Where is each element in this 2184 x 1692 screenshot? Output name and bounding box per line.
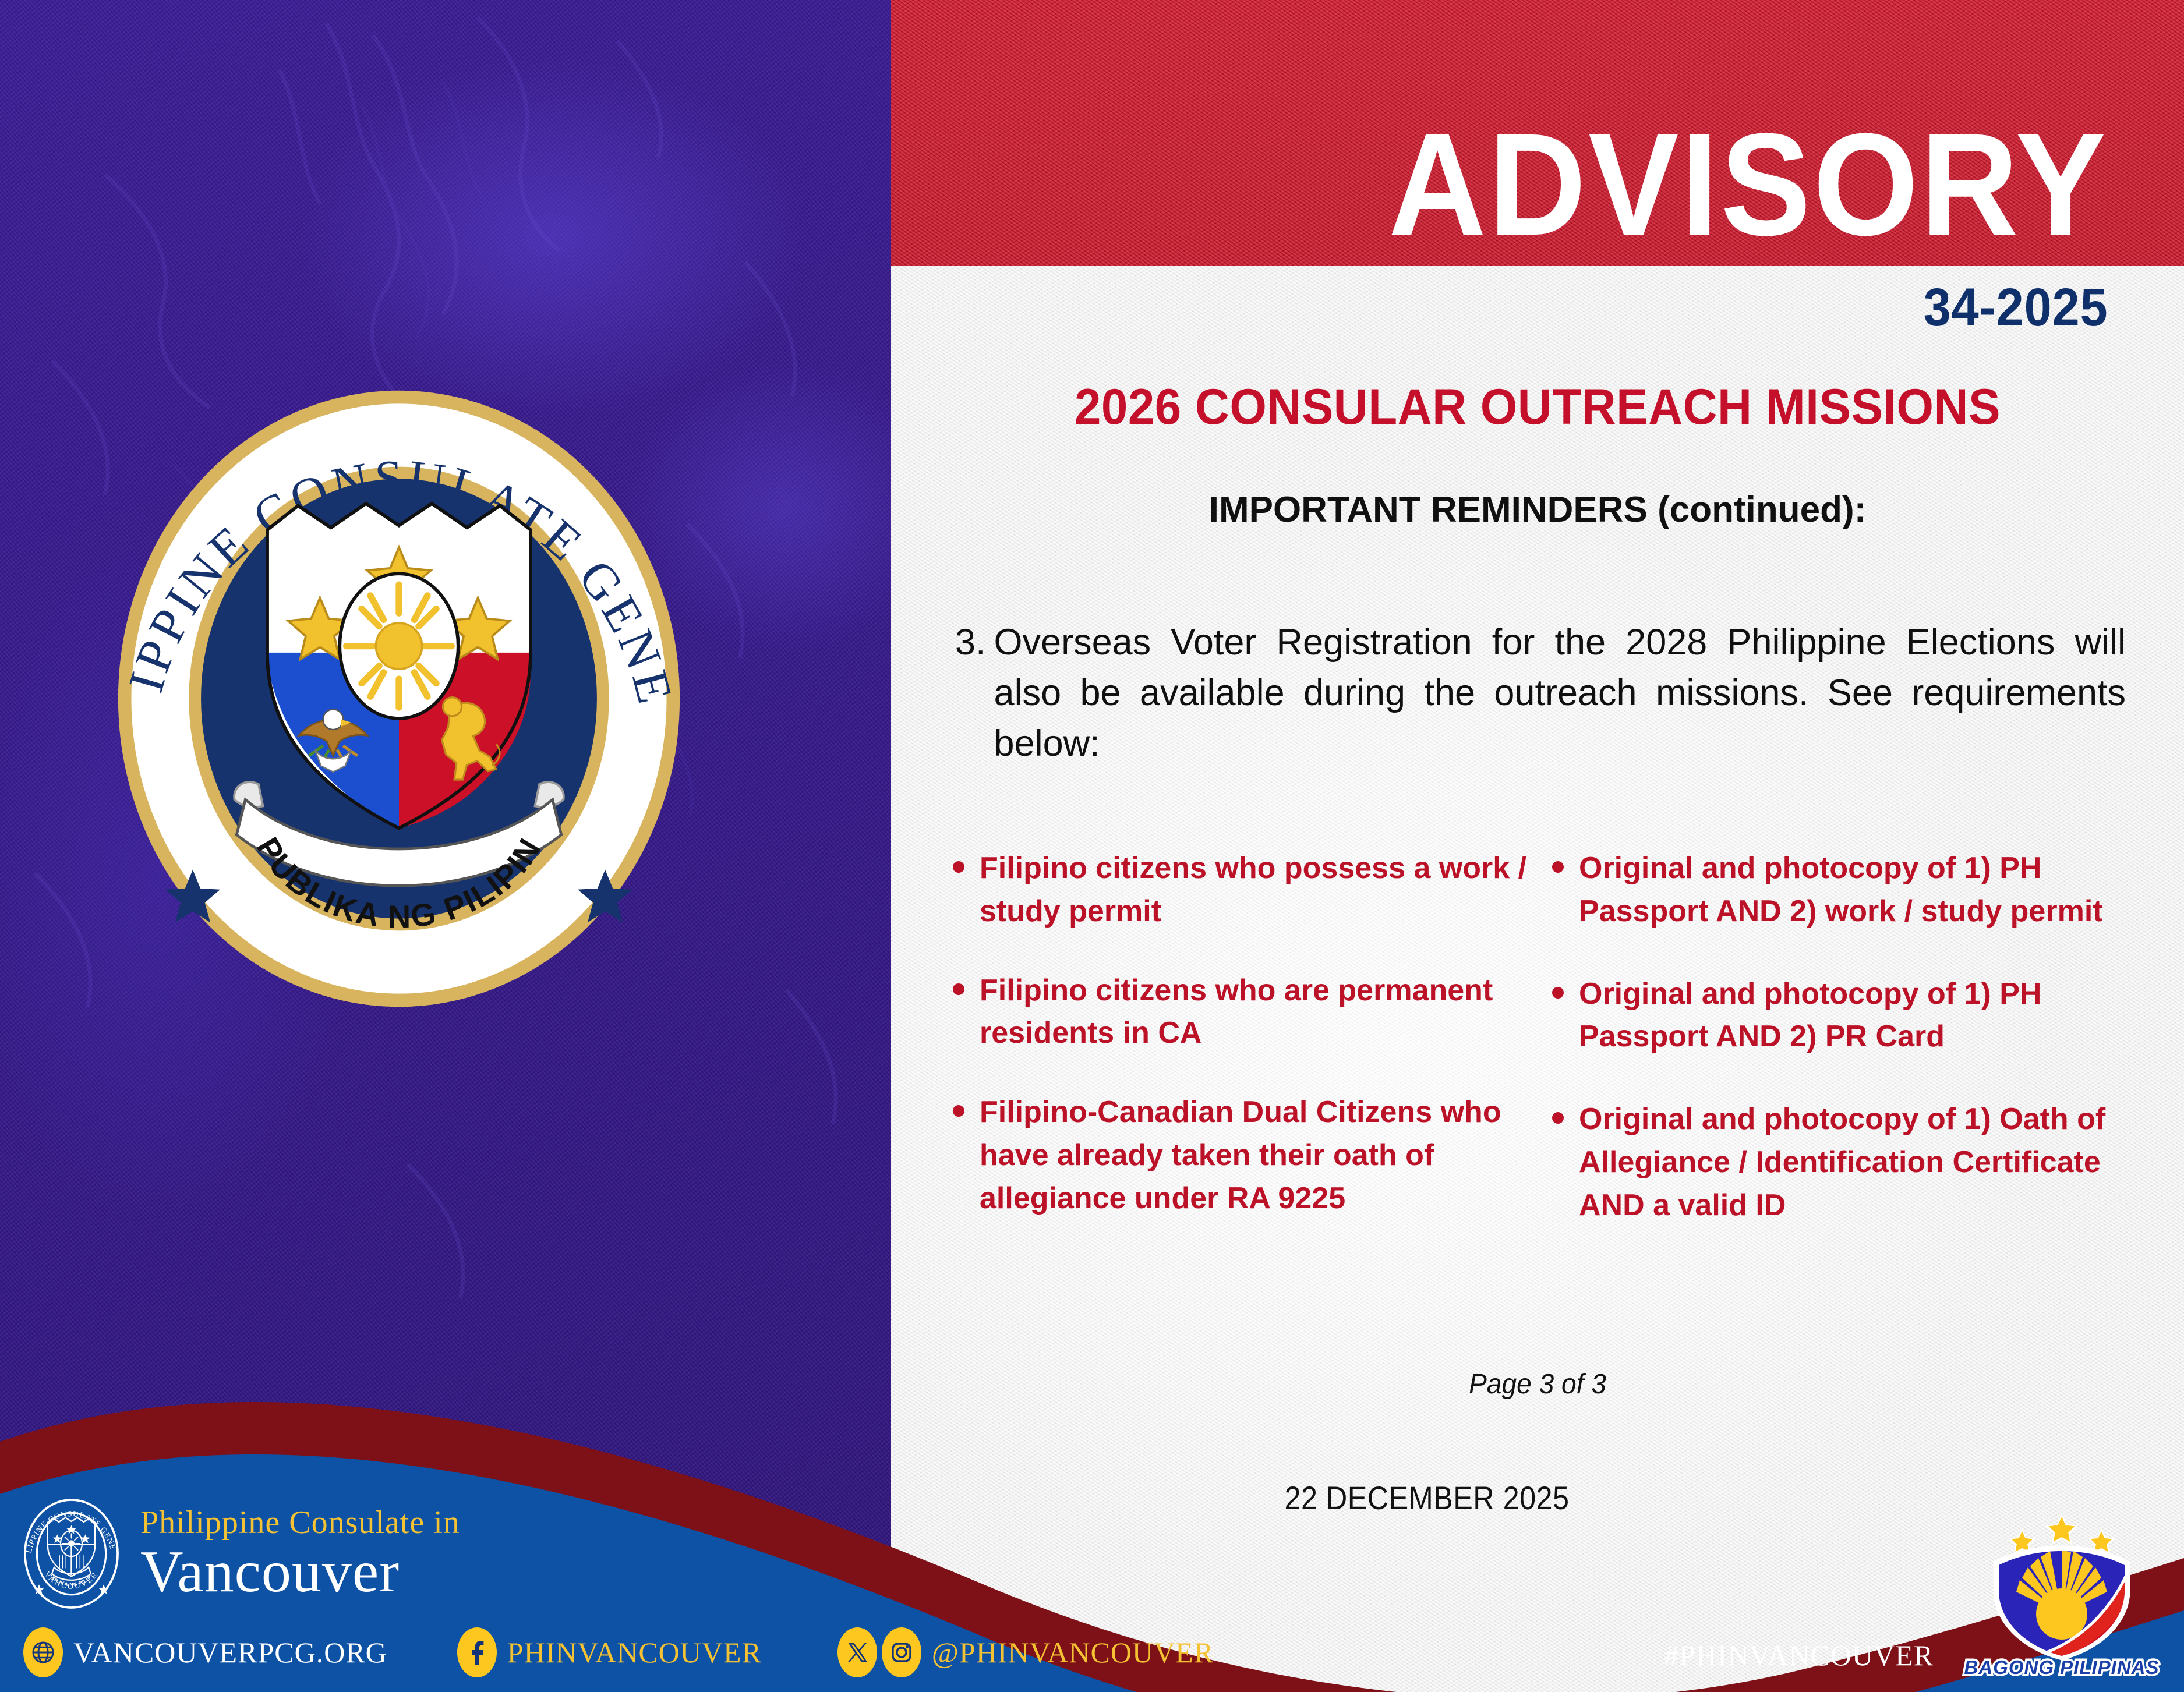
- bullet-dot-icon: [953, 861, 964, 873]
- item-body: Overseas Voter Registration for the 2028…: [994, 617, 2126, 769]
- left-panel: PHILIPPINE CONSULATE GENERAL VANCOUVER: [0, 0, 891, 1692]
- document-date: 22 DECEMBER 2025: [1018, 1479, 1836, 1517]
- consulate-seal-small-icon: PHILIPPINE CONSULATE GENERAL VANCOUVER: [17, 1491, 125, 1616]
- x-twitter-link[interactable]: [837, 1627, 877, 1677]
- bagong-pilipinas-logo: BAGONG PILIPINAS: [1957, 1509, 2167, 1678]
- requirements-grid: Filipino citizens who possess a work / s…: [949, 847, 2132, 1267]
- requirements-docs-column: Original and photocopy of 1) PH Passport…: [1549, 847, 2132, 1267]
- instagram-link[interactable]: @PHINVANCOUVER: [877, 1627, 1214, 1677]
- bullet-dot-icon: [1552, 987, 1564, 999]
- numbered-item: 3. Overseas Voter Registration for the 2…: [955, 617, 2126, 769]
- requirement-who: Filipino citizens who are permanent resi…: [980, 969, 1532, 1056]
- list-item: Filipino-Canadian Dual Citizens who have…: [949, 1091, 1532, 1220]
- list-item: Filipino citizens who are permanent resi…: [949, 969, 1532, 1056]
- section-subtitle: IMPORTANT REMINDERS (continued):: [891, 489, 2184, 530]
- consulate-seal: PHILIPPINE CONSULATE GENERAL VANCOUVER: [70, 370, 728, 1028]
- page-title: 2026 CONSULAR OUTREACH MISSIONS: [924, 378, 2152, 436]
- advisory-banner: ADVISORY: [891, 0, 2184, 266]
- requirements-who-column: Filipino citizens who possess a work / s…: [949, 847, 1532, 1267]
- right-panel: ADVISORY 34-2025 2026 CONSULAR OUTREACH …: [891, 0, 2184, 1692]
- bagong-pilipinas-label: BAGONG PILIPINAS: [1964, 1656, 2159, 1678]
- list-item: Original and photocopy of 1) PH Passport…: [1549, 847, 2132, 933]
- website-label: VANCOUVERPCG.ORG: [73, 1636, 387, 1669]
- footer-brand: PHILIPPINE CONSULATE GENERAL VANCOUVER: [17, 1491, 460, 1616]
- advisory-number: 34-2025: [1924, 277, 2108, 338]
- requirement-docs: Original and photocopy of 1) PH Passport…: [1579, 973, 2132, 1059]
- social-links-bar: VANCOUVERPCG.ORG PHINVANCOUVER: [23, 1624, 1214, 1680]
- bullet-dot-icon: [1552, 1112, 1564, 1124]
- brand-line-1: Philippine Consulate in: [140, 1506, 460, 1539]
- bullet-dot-icon: [1552, 861, 1564, 873]
- bullet-dot-icon: [953, 1105, 964, 1117]
- advisory-poster: PHILIPPINE CONSULATE GENERAL VANCOUVER: [0, 0, 2184, 1692]
- item-number: 3.: [955, 617, 986, 668]
- instagram-icon: [882, 1627, 921, 1677]
- x-twitter-icon: [837, 1627, 877, 1677]
- list-item: Filipino citizens who possess a work / s…: [949, 847, 1532, 933]
- page-indicator: Page 3 of 3: [917, 1368, 2158, 1400]
- requirement-who: Filipino-Canadian Dual Citizens who have…: [980, 1091, 1532, 1220]
- bullet-dot-icon: [953, 983, 964, 995]
- facebook-link[interactable]: PHINVANCOUVER: [457, 1627, 762, 1677]
- facebook-icon: [457, 1627, 497, 1677]
- hashtag-label: #PHINVANCOUVER: [1664, 1638, 1934, 1672]
- list-item: Original and photocopy of 1) PH Passport…: [1549, 973, 2132, 1059]
- list-item: Original and photocopy of 1) Oath of All…: [1549, 1098, 2132, 1227]
- website-link[interactable]: VANCOUVERPCG.ORG: [23, 1627, 387, 1677]
- globe-icon: [23, 1627, 63, 1677]
- requirement-who: Filipino citizens who possess a work / s…: [980, 847, 1532, 933]
- requirement-docs: Original and photocopy of 1) Oath of All…: [1579, 1098, 2132, 1227]
- facebook-label: PHINVANCOUVER: [507, 1636, 762, 1669]
- instagram-label: @PHINVANCOUVER: [932, 1636, 1214, 1669]
- requirement-docs: Original and photocopy of 1) PH Passport…: [1579, 847, 2132, 933]
- advisory-title: ADVISORY: [1388, 118, 2108, 252]
- brand-text-block: Philippine Consulate in Vancouver: [140, 1506, 460, 1602]
- brand-line-2: Vancouver: [140, 1542, 460, 1602]
